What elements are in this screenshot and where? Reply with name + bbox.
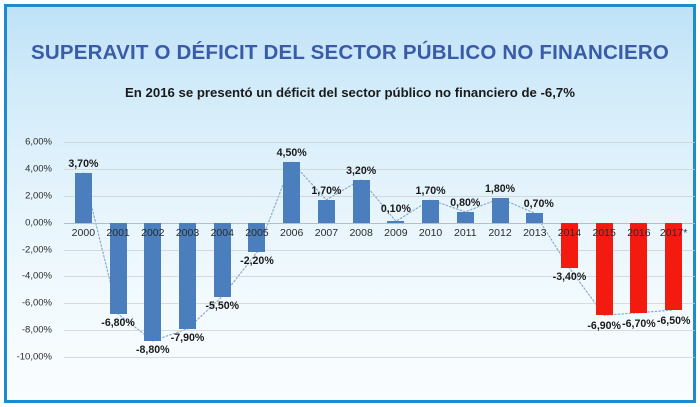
x-axis-category-label: 2005 bbox=[245, 227, 268, 239]
x-axis-category-label: 2000 bbox=[72, 227, 95, 239]
x-axis-category-label: 2007 bbox=[315, 227, 338, 239]
y-axis-tick-label: 4,00% bbox=[4, 163, 52, 174]
x-axis-category-label: 2016 bbox=[627, 227, 650, 239]
bar bbox=[144, 223, 161, 341]
bar-value-label: 0,10% bbox=[381, 203, 411, 215]
bar bbox=[387, 221, 404, 222]
y-axis-labels: 6,00%4,00%2,00%0,00%-2,00%-4,00%-6,00%-8… bbox=[6, 142, 52, 357]
y-axis-tick-label: 6,00% bbox=[4, 137, 52, 148]
x-axis-category-label: 2002 bbox=[141, 227, 164, 239]
bar-value-label: 4,50% bbox=[277, 147, 307, 159]
bar-value-label: 3,70% bbox=[68, 158, 98, 170]
bar bbox=[283, 162, 300, 222]
bar bbox=[422, 200, 439, 223]
bar-value-label: -6,80% bbox=[101, 317, 135, 329]
gridline bbox=[64, 169, 695, 170]
bar-value-label: -6,90% bbox=[587, 320, 621, 332]
bar-value-label: -5,50% bbox=[205, 300, 239, 312]
y-axis-tick-label: -8,00% bbox=[4, 325, 52, 336]
bar-value-label: -8,80% bbox=[136, 344, 170, 356]
bar-value-label: 0,80% bbox=[450, 197, 480, 209]
x-axis-category-label: 2013 bbox=[523, 227, 546, 239]
x-axis-category-label: 2017* bbox=[660, 227, 687, 239]
chart-subtitle: En 2016 se presentó un déficit del secto… bbox=[7, 85, 693, 100]
x-axis-category-label: 2001 bbox=[106, 227, 129, 239]
gridline bbox=[64, 196, 695, 197]
x-axis-category-label: 2003 bbox=[176, 227, 199, 239]
bar bbox=[353, 180, 370, 223]
plot-area: 20003,70%2001-6,80%2002-8,80%2003-7,90%2… bbox=[54, 142, 699, 357]
x-axis-category-label: 2012 bbox=[488, 227, 511, 239]
chart-screenshot: SUPERAVIT O DÉFICIT DEL SECTOR PÚBLICO N… bbox=[0, 0, 700, 407]
bar-value-label: 3,20% bbox=[346, 165, 376, 177]
y-axis-tick-label: -2,00% bbox=[4, 244, 52, 255]
y-axis-tick-label: 0,00% bbox=[4, 217, 52, 228]
gridline bbox=[64, 357, 695, 358]
chart-frame: SUPERAVIT O DÉFICIT DEL SECTOR PÚBLICO N… bbox=[4, 4, 696, 403]
x-axis-category-label: 2004 bbox=[211, 227, 234, 239]
bar-value-label: 0,70% bbox=[524, 198, 554, 210]
y-axis-tick-label: -6,00% bbox=[4, 298, 52, 309]
x-axis-category-label: 2010 bbox=[419, 227, 442, 239]
bar bbox=[75, 173, 92, 223]
x-axis-category-label: 2009 bbox=[384, 227, 407, 239]
gridline bbox=[64, 142, 695, 143]
bar-value-label: 1,80% bbox=[485, 183, 515, 195]
bar-value-label: -7,90% bbox=[171, 332, 205, 344]
bar-value-label: -2,20% bbox=[240, 255, 274, 267]
x-axis-category-label: 2006 bbox=[280, 227, 303, 239]
x-axis-category-label: 2014 bbox=[558, 227, 581, 239]
bar bbox=[526, 213, 543, 222]
bar-value-label: -3,40% bbox=[553, 271, 587, 283]
bar-value-label: -6,50% bbox=[657, 315, 691, 327]
y-axis-tick-label: 2,00% bbox=[4, 190, 52, 201]
bar-value-label: 1,70% bbox=[311, 185, 341, 197]
bar-value-label: -6,70% bbox=[622, 318, 656, 330]
bar bbox=[492, 198, 509, 222]
bar bbox=[318, 200, 335, 223]
x-axis-category-label: 2008 bbox=[349, 227, 372, 239]
y-axis-tick-label: -10,00% bbox=[4, 352, 52, 363]
bar bbox=[457, 212, 474, 223]
y-axis-tick-label: -4,00% bbox=[4, 271, 52, 282]
bar-value-label: 1,70% bbox=[416, 185, 446, 197]
chart-title: SUPERAVIT O DÉFICIT DEL SECTOR PÚBLICO N… bbox=[7, 41, 693, 65]
x-axis-category-label: 2015 bbox=[593, 227, 616, 239]
x-axis-category-label: 2011 bbox=[454, 227, 477, 239]
chart-inner: SUPERAVIT O DÉFICIT DEL SECTOR PÚBLICO N… bbox=[7, 7, 693, 400]
